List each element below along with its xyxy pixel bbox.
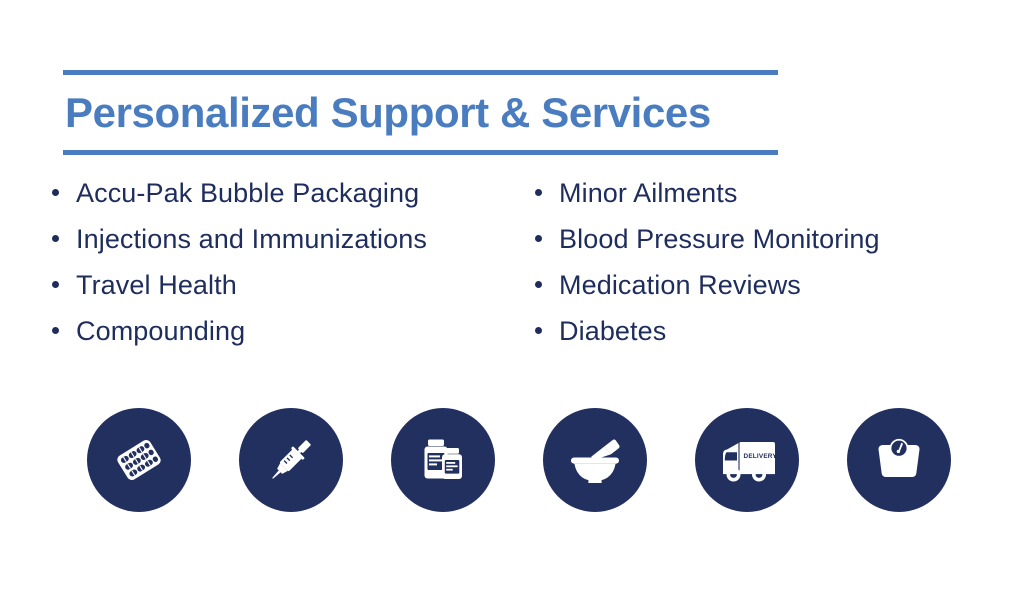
icon-badge-mortar-pestle (543, 408, 647, 512)
weight-scale-icon (868, 429, 930, 491)
list-item-label: Blood Pressure Monitoring (559, 224, 880, 254)
slide-canvas: Personalized Support & Services Accu-Pak… (0, 0, 1025, 590)
page-title: Personalized Support & Services (63, 75, 778, 150)
bullet-dot-icon (52, 235, 59, 242)
title-rule-bottom (63, 150, 778, 155)
pill-bottles-icon (412, 429, 474, 491)
list-item: Diabetes (535, 316, 1005, 362)
icon-badge-pill-bottles (391, 408, 495, 512)
list-item: Minor Ailments (535, 178, 1005, 224)
list-item: Blood Pressure Monitoring (535, 224, 1005, 270)
bullet-dot-icon (535, 189, 542, 196)
icon-badge-weight-scale (847, 408, 951, 512)
bullet-dot-icon (52, 327, 59, 334)
bullet-dot-icon (535, 235, 542, 242)
list-item: Injections and Immunizations (52, 224, 532, 270)
delivery-truck-icon: DELIVERY (713, 426, 781, 494)
list-item-label: Minor Ailments (559, 178, 737, 208)
bullet-dot-icon (535, 281, 542, 288)
service-icon-row: DELIVERY (87, 408, 967, 512)
list-item: Accu-Pak Bubble Packaging (52, 178, 532, 224)
list-item: Medication Reviews (535, 270, 1005, 316)
services-list-right: Minor Ailments Blood Pressure Monitoring… (535, 178, 1005, 362)
title-block: Personalized Support & Services (63, 70, 778, 155)
truck-delivery-label: DELIVERY (744, 453, 778, 460)
icon-badge-delivery-truck: DELIVERY (695, 408, 799, 512)
list-item: Compounding (52, 316, 532, 362)
services-lists: Accu-Pak Bubble Packaging Injections and… (0, 178, 1025, 362)
mortar-pestle-icon (563, 428, 627, 492)
syringe-icon (260, 429, 322, 491)
bullet-dot-icon (52, 281, 59, 288)
icon-badge-syringe (239, 408, 343, 512)
list-item-label: Medication Reviews (559, 270, 801, 300)
list-item-label: Compounding (76, 316, 245, 346)
bullet-dot-icon (535, 327, 542, 334)
list-item-label: Injections and Immunizations (76, 224, 427, 254)
list-item-label: Travel Health (76, 270, 237, 300)
list-item: Travel Health (52, 270, 532, 316)
blister-pack-icon (108, 429, 170, 491)
services-list-left: Accu-Pak Bubble Packaging Injections and… (52, 178, 532, 362)
icon-badge-blister-pack (87, 408, 191, 512)
list-item-label: Diabetes (559, 316, 666, 346)
bullet-dot-icon (52, 189, 59, 196)
list-item-label: Accu-Pak Bubble Packaging (76, 178, 419, 208)
